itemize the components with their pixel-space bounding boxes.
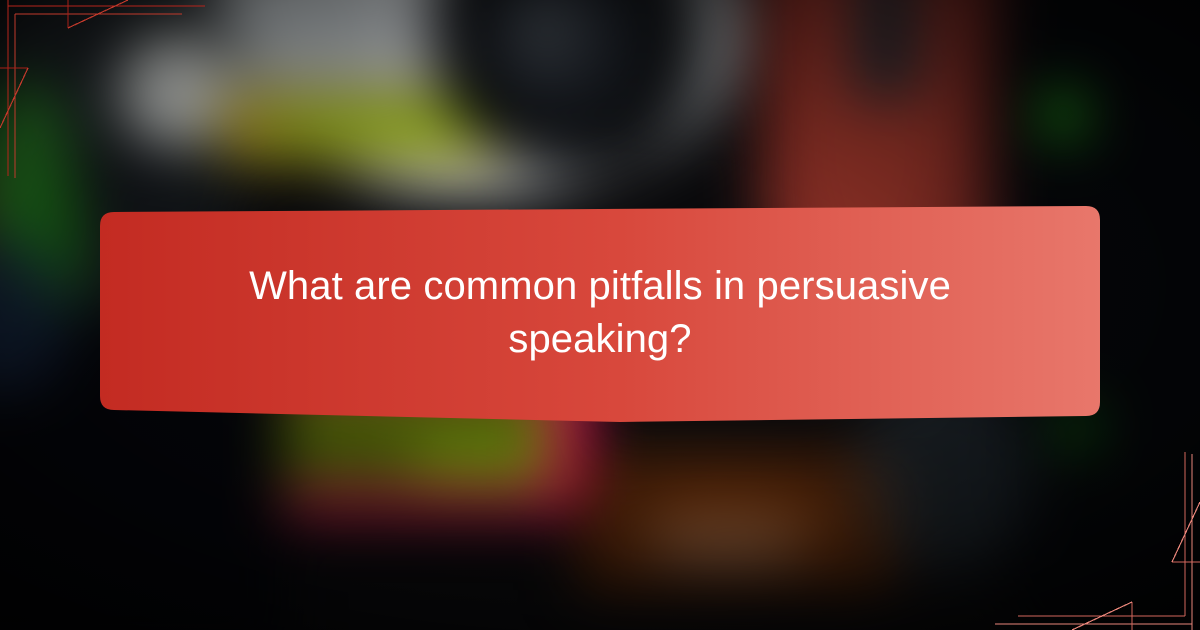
question-banner: What are common pitfalls in persuasive s…: [100, 206, 1100, 424]
share-card-canvas: What are common pitfalls in persuasive s…: [0, 0, 1200, 630]
bg-blob-window: [854, 0, 918, 98]
bg-blob-podium-highlight: [642, 527, 812, 563]
question-banner-text-area: What are common pitfalls in persuasive s…: [100, 206, 1100, 424]
question-text: What are common pitfalls in persuasive s…: [220, 260, 980, 366]
bg-blob-face-mask: [123, 61, 224, 125]
bg-blob-green-right: [1040, 87, 1088, 140]
